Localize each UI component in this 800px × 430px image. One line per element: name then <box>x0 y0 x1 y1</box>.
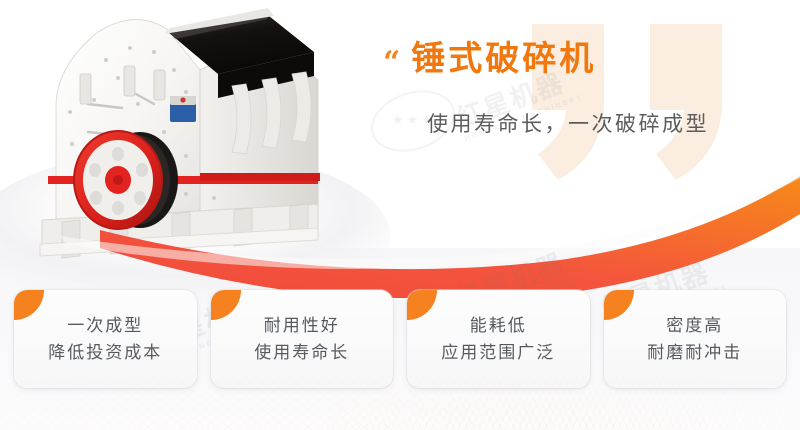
feature-card-line-1: 耐用性好 <box>264 316 340 336</box>
feature-card-line-1: 密度高 <box>666 316 723 336</box>
feature-card-line-2: 降低投资成本 <box>48 343 162 363</box>
feature-card[interactable]: 耐用性好 使用寿命长 <box>211 290 394 388</box>
leaf-accent-icon <box>604 290 634 320</box>
feature-card-line-2: 使用寿命长 <box>254 343 349 363</box>
subtitle: 使用寿命长，一次破碎成型 <box>427 108 783 138</box>
feature-card-line-2: 应用范围广泛 <box>441 343 555 363</box>
leaf-accent-icon <box>211 290 241 320</box>
leaf-accent-icon <box>407 290 437 320</box>
feature-card-list: 一次成型 降低投资成本 耐用性好 使用寿命长 能耗低 应用范围广泛 密度高 耐磨… <box>14 290 786 388</box>
feature-card[interactable]: 密度高 耐磨耐冲击 <box>604 290 787 388</box>
feature-card-line-1: 一次成型 <box>67 316 143 336</box>
feature-card[interactable]: 能耗低 应用范围广泛 <box>407 290 590 388</box>
product-image-hammer-crusher <box>18 8 348 278</box>
feature-card-line-1: 能耗低 <box>470 316 527 336</box>
leaf-accent-icon <box>14 290 44 320</box>
headline-block: “ 锤式破碎机 使用寿命长，一次破碎成型 <box>383 42 783 138</box>
feature-card[interactable]: 一次成型 降低投资成本 <box>14 290 197 388</box>
page-title: 锤式破碎机 <box>411 42 596 78</box>
title-row: “ 锤式破碎机 <box>383 42 783 78</box>
quote-open-icon: “ <box>383 48 401 78</box>
feature-card-line-2: 耐磨耐冲击 <box>647 343 742 363</box>
watermark-stars: ★★★ <box>392 112 436 128</box>
promo-banner: “ 锤式破碎机 使用寿命长，一次破碎成型 红星机器 HONGXING MACHI… <box>0 0 800 430</box>
